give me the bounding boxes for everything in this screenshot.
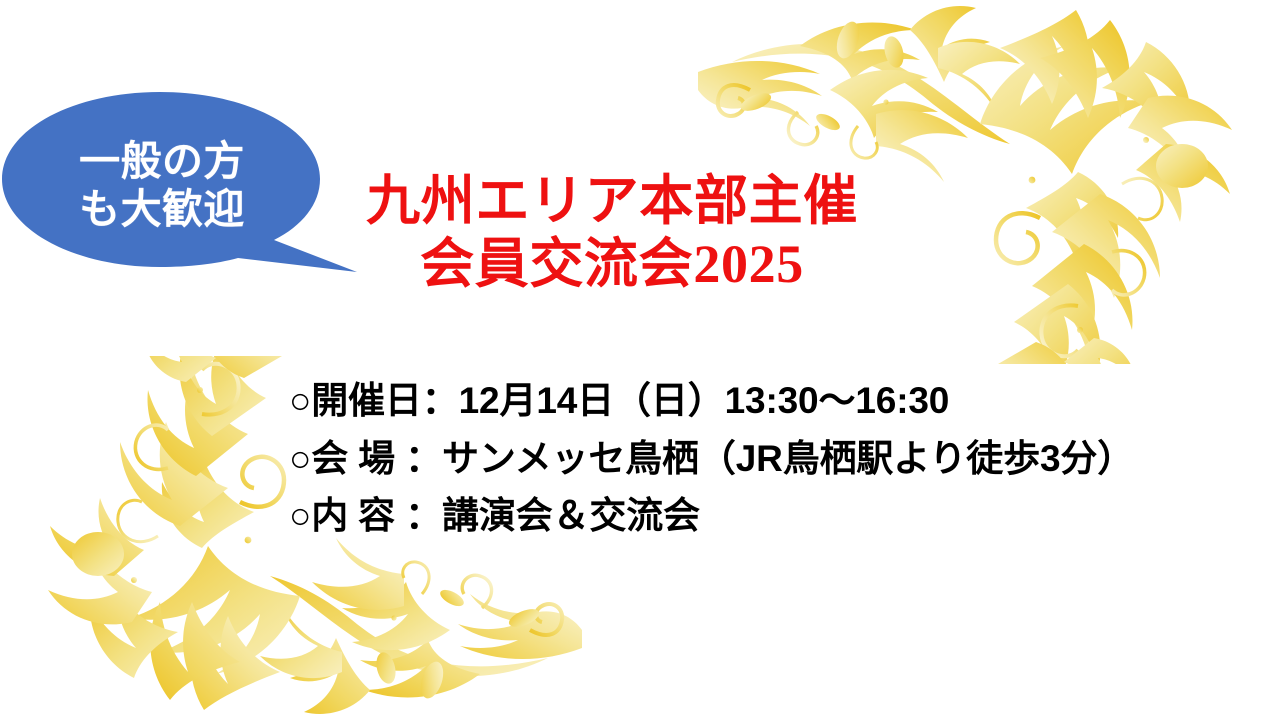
title-line-2: 会員交流会2025 (352, 233, 872, 296)
event-details-list: ○開催日：12月14日（日）13:30～16:30 ○会 場 ：サンメッセ鳥栖（… (289, 372, 1134, 545)
callout-text: 一般の方 も大歓迎 (4, 98, 320, 274)
detail-line-program: ○内 容 ：講演会＆交流会 (289, 487, 1134, 545)
callout-line-2: も大歓迎 (79, 186, 245, 234)
detail-line-venue: ○会 場 ：サンメッセ鳥栖（JR鳥栖駅より徒歩3分） (289, 430, 1134, 488)
page-title: 九州エリア本部主催 会員交流会2025 (352, 170, 872, 295)
title-line-1: 九州エリア本部主催 (352, 170, 872, 233)
detail-line-date: ○開催日：12月14日（日）13:30～16:30 (289, 372, 1134, 430)
callout-line-1: 一般の方 (79, 138, 245, 186)
event-flyer: 一般の方 も大歓迎 九州エリア本部主催 会員交流会2025 ○開催日：12月14… (0, 0, 1280, 720)
